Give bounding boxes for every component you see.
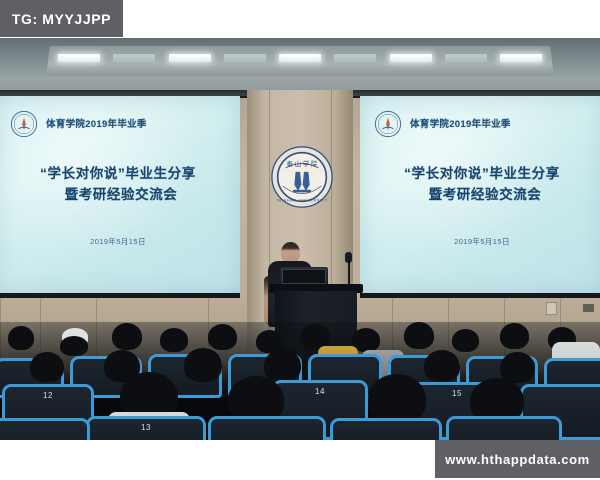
seat-number: 12 <box>43 391 53 400</box>
audience-head <box>160 328 188 352</box>
ceiling-light <box>224 54 266 62</box>
laptop-screen <box>282 269 326 284</box>
slide-logo-icon <box>374 110 402 138</box>
audience-head <box>208 324 237 350</box>
audience-head <box>30 352 64 382</box>
seat-number: 13 <box>141 423 151 432</box>
ceiling-light <box>58 54 100 62</box>
ceiling-light <box>445 54 487 62</box>
ceiling-light <box>169 54 211 62</box>
seat-number: 15 <box>452 389 462 398</box>
ceiling-light-row <box>58 51 542 64</box>
projection-screen-right: 体育学院2019年毕业季 “学长对你说”毕业生分享 暨考研经验交流会 2019年… <box>360 96 600 298</box>
slide-title: “学长对你说”毕业生分享 暨考研经验交流会 <box>360 164 600 206</box>
university-emblem: 泰 山 学 院 TAISHAN UNIVERSITY <box>270 145 334 209</box>
svg-text:TAISHAN UNIVERSITY: TAISHAN UNIVERSITY <box>276 198 328 202</box>
audience-head <box>500 323 529 349</box>
audience-head <box>424 350 460 382</box>
projection-screen-left: 体育学院2019年毕业季 “学长对你说”毕业生分享 暨考研经验交流会 2019年… <box>0 96 240 298</box>
ceiling <box>0 38 600 96</box>
audience-head <box>404 322 434 349</box>
ceiling-light <box>113 54 155 62</box>
website-watermark: www.hthappdata.com <box>435 440 600 478</box>
ceiling-light <box>500 54 542 62</box>
slide-logo-icon <box>10 110 38 138</box>
slide-date-text: 2019年5月15日 <box>0 236 240 247</box>
slide-title-line1: “学长对你说”毕业生分享 <box>360 164 600 185</box>
slide-date-text: 2019年5月15日 <box>360 236 600 247</box>
audience-area: 12 14 15 13 <box>0 322 600 440</box>
slide-title: “学长对你说”毕业生分享 暨考研经验交流会 <box>0 164 240 206</box>
auditorium-seat[interactable] <box>0 418 90 440</box>
slide-title-line1: “学长对你说”毕业生分享 <box>0 164 240 185</box>
slide-header-text: 体育学院2019年毕业季 <box>46 116 147 130</box>
screenshot-root: 泰 山 学 院 TAISHAN UNIVERSITY <box>0 0 600 480</box>
audience-head <box>452 329 479 352</box>
audience-head <box>184 348 222 382</box>
auditorium-seat[interactable] <box>208 416 326 440</box>
seat-number: 14 <box>315 387 325 396</box>
auditorium-seat[interactable] <box>446 416 562 440</box>
audience-head <box>368 374 426 424</box>
ceiling-light <box>334 54 376 62</box>
wall-outlet <box>546 302 557 315</box>
audience-head <box>8 326 34 350</box>
audience-head <box>60 336 88 356</box>
audience-head <box>112 323 142 350</box>
ceiling-light <box>390 54 432 62</box>
slide-title-line2: 暨考研经验交流会 <box>360 185 600 206</box>
auditorium-seat[interactable]: 13 <box>86 416 206 440</box>
telegram-watermark: TG: MYYJJPP <box>0 0 123 37</box>
wall-exit-marker <box>583 304 594 312</box>
ceiling-light <box>279 54 321 62</box>
auditorium-photo: 泰 山 学 院 TAISHAN UNIVERSITY <box>0 38 600 440</box>
slide-title-line2: 暨考研经验交流会 <box>0 185 240 206</box>
audience-head <box>264 349 301 382</box>
auditorium-seat[interactable] <box>330 418 442 440</box>
slide-header-text: 体育学院2019年毕业季 <box>410 116 511 130</box>
